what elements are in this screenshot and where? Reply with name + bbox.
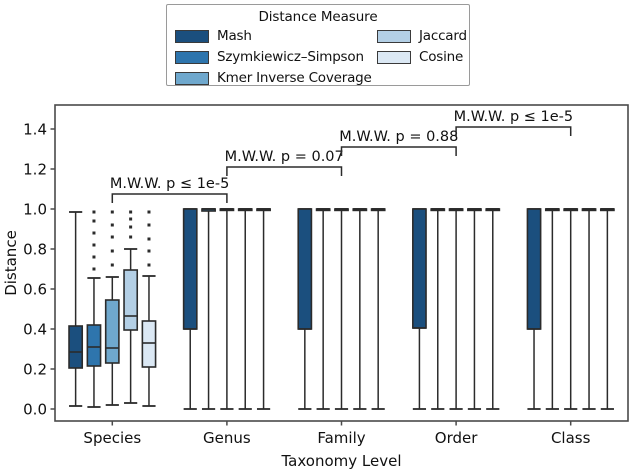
outlier-point (129, 226, 132, 229)
box-body (527, 209, 540, 329)
legend-label-jaccard: Jaccard (419, 28, 467, 44)
legend-swatch-kmer-inverse-coverage (175, 72, 209, 85)
legend-label-kmer-inverse-coverage: Kmer Inverse Coverage (217, 70, 372, 86)
legend-entry-kmer-inverse-coverage: Kmer Inverse Coverage (175, 69, 371, 87)
box-plot-box (449, 209, 462, 409)
significance-bracket: M.W.W. p ≤ 1e-5 (454, 109, 573, 136)
outlier-point (92, 232, 95, 235)
outlier-point (129, 218, 132, 221)
outlier-point (92, 211, 95, 214)
y-tick-label: 1.2 (23, 161, 47, 179)
outlier-point (92, 256, 95, 259)
y-tick-label: 0.2 (23, 361, 47, 379)
legend-title: Distance Measure (167, 9, 469, 25)
box-plot-box (468, 209, 481, 409)
legend-label-cosine: Cosine (419, 49, 463, 65)
legend-entry-szymkiewicz-simpson: Szymkiewicz–Simpson (175, 48, 371, 66)
x-tick-label: Species (83, 429, 141, 447)
outlier-point (111, 250, 114, 253)
box-body (87, 325, 100, 366)
box-plot-box (106, 211, 119, 406)
box-body (142, 321, 155, 367)
y-tick-label: 0.6 (23, 281, 47, 299)
box-plot-box (184, 209, 197, 409)
outlier-point (111, 211, 114, 214)
x-tick-label: Order (435, 429, 478, 447)
bracket-path (456, 127, 571, 136)
outlier-point (92, 268, 95, 271)
box-body (124, 270, 137, 330)
legend-entry-cosine: Cosine (377, 48, 467, 66)
box-body (413, 209, 426, 328)
y-tick-label: 1.4 (23, 121, 47, 139)
significance-bracket: M.W.W. p = 0.07 (225, 149, 344, 176)
bracket-path (227, 167, 342, 176)
box-plot-box (564, 209, 577, 409)
outlier-point (147, 211, 150, 214)
outlier-point (129, 236, 132, 239)
box-plot-box (202, 209, 215, 409)
y-tick-label: 0.8 (23, 241, 47, 259)
significance-bracket: M.W.W. p ≤ 1e-5 (110, 176, 229, 203)
x-tick-label: Class (551, 429, 591, 447)
x-tick-label: Genus (203, 429, 251, 447)
legend-swatch-szymkiewicz-simpson (175, 51, 209, 64)
y-axis-label: Distance (2, 230, 20, 296)
y-tick-label: 1.0 (23, 201, 47, 219)
significance-bracket: M.W.W. p = 0.88 (339, 129, 458, 156)
box-plot-box (69, 212, 82, 406)
outlier-point (147, 250, 150, 253)
box-plot-box (546, 209, 559, 409)
box-plot-box (335, 209, 348, 409)
legend-entry-jaccard: Jaccard (377, 27, 467, 45)
legend-label-mash: Mash (217, 28, 252, 44)
legend-swatch-mash (175, 30, 209, 43)
bracket-label: M.W.W. p ≤ 1e-5 (110, 176, 229, 192)
box-body (184, 209, 197, 329)
legend: Distance Measure Mash Szymkiewicz–Simpso… (166, 4, 470, 86)
box-plot-box (372, 209, 385, 409)
box-plot-box (317, 209, 330, 409)
legend-label-szymkiewicz-simpson: Szymkiewicz–Simpson (217, 49, 364, 65)
y-tick-label: 0.4 (23, 321, 47, 339)
box-plot-box (486, 209, 499, 409)
box-plot-box (413, 209, 426, 409)
box-body (298, 209, 311, 329)
legend-columns: Mash Szymkiewicz–Simpson Kmer Inverse Co… (167, 25, 469, 87)
legend-swatch-jaccard (377, 30, 411, 43)
bracket-path (342, 147, 457, 156)
outlier-point (111, 224, 114, 227)
bracket-label: M.W.W. p = 0.07 (225, 149, 344, 165)
box-plot-box (257, 209, 270, 409)
box-plot-box (431, 209, 444, 409)
box-plot-box (87, 211, 100, 408)
y-tick-label: 0.0 (23, 401, 47, 419)
bracket-label: M.W.W. p = 0.88 (339, 129, 458, 145)
box-plot-box (582, 209, 595, 409)
outlier-point (147, 238, 150, 241)
outlier-point (111, 236, 114, 239)
box-plot-box (601, 209, 614, 409)
legend-swatch-cosine (377, 51, 411, 64)
outlier-point (147, 264, 150, 267)
bracket-path (112, 194, 227, 203)
box-plot-box (527, 209, 540, 409)
box-plot-box (220, 209, 233, 409)
x-tick-label: Family (317, 429, 365, 447)
legend-column-left: Mash Szymkiewicz–Simpson Kmer Inverse Co… (175, 27, 371, 87)
outlier-point (92, 220, 95, 223)
outlier-point (129, 211, 132, 214)
outlier-point (111, 264, 114, 267)
box-body (69, 326, 82, 368)
legend-column-right: Jaccard Cosine (377, 27, 467, 87)
outlier-point (92, 244, 95, 247)
box-plot-box (239, 209, 252, 409)
legend-entry-mash: Mash (175, 27, 371, 45)
figure-container: 0.00.20.40.60.81.01.21.4DistanceSpeciesG… (0, 0, 640, 473)
box-plot-box (298, 209, 311, 409)
x-axis-label: Taxonomy Level (281, 452, 402, 470)
box-plot-box (142, 211, 155, 407)
box-plot-box (124, 211, 137, 404)
bracket-label: M.W.W. p ≤ 1e-5 (454, 109, 573, 125)
box-body (106, 300, 119, 363)
box-plot-box (353, 209, 366, 409)
outlier-point (147, 224, 150, 227)
